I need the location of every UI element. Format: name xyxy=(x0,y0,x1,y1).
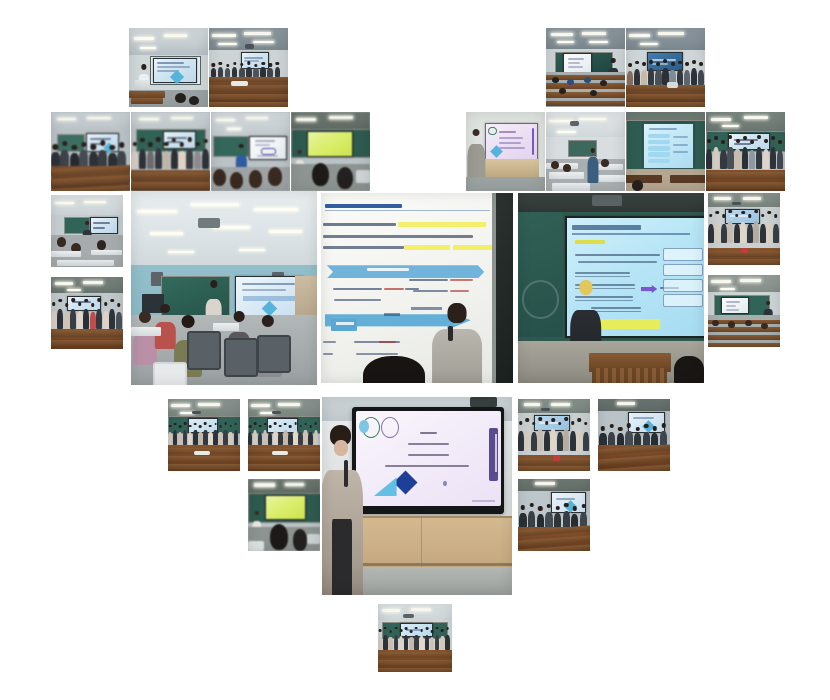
photo-thumbnail xyxy=(131,112,210,191)
photo-thumbnail xyxy=(51,277,123,349)
photo-thumbnail xyxy=(626,112,705,191)
photo-large xyxy=(518,193,704,383)
photo-thumbnail xyxy=(211,112,290,191)
photo-thumbnail xyxy=(518,479,590,551)
photo-collage xyxy=(0,0,830,700)
photo-thumbnail xyxy=(626,28,705,107)
photo-thumbnail xyxy=(51,112,130,191)
photo-thumbnail xyxy=(598,399,670,471)
photo-large xyxy=(322,397,512,595)
photo-thumbnail xyxy=(708,275,780,347)
photo-thumbnail xyxy=(209,28,288,107)
photo-thumbnail xyxy=(706,112,785,191)
photo-thumbnail xyxy=(129,28,208,107)
photo-thumbnail xyxy=(51,195,123,267)
photo-thumbnail xyxy=(466,112,545,191)
photo-thumbnail xyxy=(291,112,370,191)
photo-thumbnail xyxy=(708,193,780,265)
photo-thumbnail xyxy=(378,604,452,672)
photo-large xyxy=(321,193,513,383)
photo-thumbnail xyxy=(248,399,320,471)
photo-thumbnail xyxy=(546,112,625,191)
photo-thumbnail xyxy=(248,479,320,551)
photo-thumbnail xyxy=(546,28,625,107)
photo-thumbnail xyxy=(518,399,590,471)
photo-thumbnail xyxy=(168,399,240,471)
photo-large xyxy=(131,191,317,385)
